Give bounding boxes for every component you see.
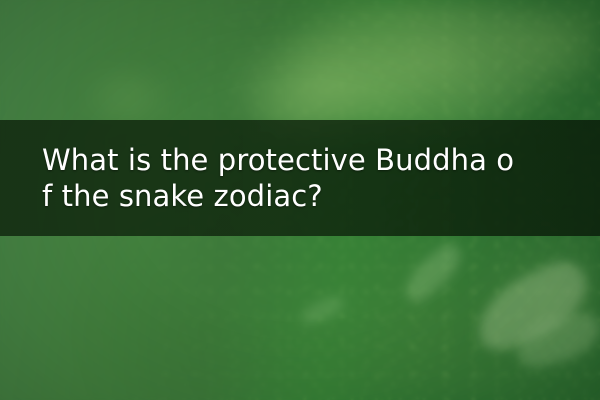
caption-overlay-band: What is the protective Buddha o f the sn… [0,120,600,236]
screenshot-canvas: What is the protective Buddha o f the sn… [0,0,600,400]
blurred-leaf-shape [396,240,470,307]
blurred-leaf-shape [298,293,348,326]
caption-question-text: What is the protective Buddha o f the sn… [0,142,576,214]
